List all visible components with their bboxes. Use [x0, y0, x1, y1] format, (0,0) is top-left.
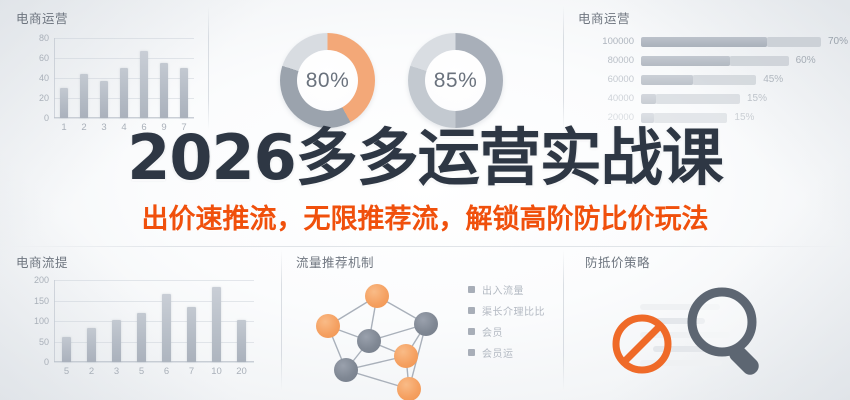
bar-remainder — [767, 37, 821, 47]
bar-value-label: 60% — [796, 55, 816, 66]
bar-track — [641, 75, 756, 85]
legend-label: 会员 — [482, 324, 503, 339]
legend-item: 出入流量 — [468, 282, 524, 297]
bar — [62, 337, 71, 362]
network-node — [357, 329, 381, 353]
bar-remainder — [730, 56, 789, 66]
bar-fill — [641, 56, 730, 66]
panel-top-right-title: 电商运营 — [578, 8, 838, 27]
panel-top-center: 80% 85% — [215, 8, 560, 133]
traffic-bar-chart: 0501001502005235671020 — [54, 280, 254, 362]
legend-item: 渠长介理比比 — [468, 303, 545, 318]
x-axis-tick-label: 5 — [64, 366, 69, 377]
bar-group: 2 — [79, 280, 104, 362]
bar-group: 10 — [204, 280, 229, 362]
bar — [137, 313, 146, 362]
legend-label: 会员运 — [482, 345, 514, 360]
legend-swatch-icon — [468, 328, 475, 335]
divider-vertical-left — [208, 6, 209, 130]
donut-chart-80: 80% — [280, 33, 375, 128]
bar-fill — [641, 37, 767, 47]
network-nodes — [296, 274, 481, 400]
x-axis-tick-label: 7 — [189, 366, 194, 377]
network-node — [365, 284, 389, 308]
x-axis-tick-label: 6 — [164, 366, 169, 377]
bar-value-label: 15% — [734, 112, 754, 123]
y-axis-tick-label: 150 — [34, 296, 49, 306]
bar-group: 5 — [129, 280, 154, 362]
divider-horizontal — [10, 246, 840, 247]
bar-group: 1 — [54, 38, 74, 118]
bar-group: 5 — [54, 280, 79, 362]
panel-top-right: 电商运营 10000070%8000060%6000045%4000015%20… — [578, 8, 838, 133]
panel-bottom-right-title: 防抵价策略 — [585, 252, 840, 271]
bar — [100, 81, 108, 118]
bar — [140, 51, 148, 118]
network-node — [394, 344, 418, 368]
legend-label: 渠长介理比比 — [482, 303, 545, 318]
donut-85-value: 85% — [434, 69, 478, 93]
bar — [120, 68, 128, 118]
divider-vertical-right — [563, 6, 564, 130]
bar — [80, 74, 88, 118]
network-node — [397, 377, 421, 400]
bar-group: 3 — [104, 280, 129, 362]
legend-swatch-icon — [468, 286, 475, 293]
bar-group: 9 — [154, 38, 174, 118]
no-entry-icon — [610, 312, 674, 376]
x-axis-tick-label: 10 — [211, 366, 222, 377]
bar — [212, 287, 221, 362]
bar-track — [641, 94, 740, 104]
table-row: 4000015% — [578, 93, 767, 104]
main-title: 2026多多运营实战课 — [0, 126, 850, 189]
bar-group: 20 — [229, 280, 254, 362]
x-axis-tick-label: 5 — [139, 366, 144, 377]
row-label: 80000 — [578, 55, 634, 66]
bar-fill — [641, 75, 693, 85]
bar-value-label: 15% — [747, 93, 767, 104]
legend-item: 会员 — [468, 324, 503, 339]
panel-bottom-middle-title: 流量推荐机制 — [296, 252, 551, 271]
bar — [60, 88, 68, 118]
grid-line — [54, 362, 254, 363]
legend-item: 会员运 — [468, 345, 514, 360]
bar-group: 6 — [134, 38, 154, 118]
bar — [112, 320, 121, 362]
y-axis-tick-label: 0 — [44, 357, 49, 367]
row-label: 100000 — [578, 36, 634, 47]
bar-remainder — [693, 75, 756, 85]
y-axis-tick-label: 60 — [39, 53, 49, 63]
legend-label: 出入流量 — [482, 282, 524, 297]
row-label: 40000 — [578, 93, 634, 104]
bar-remainder — [656, 94, 740, 104]
bar-track — [641, 56, 789, 66]
bar-group: 6 — [154, 280, 179, 362]
y-axis-tick-label: 50 — [39, 337, 49, 347]
bar-group: 4 — [114, 38, 134, 118]
plot-area: 1234697 — [54, 38, 194, 118]
bar — [180, 68, 188, 118]
grid-line — [54, 118, 194, 119]
network-node — [334, 358, 358, 382]
magnifier-icon — [680, 280, 790, 390]
donut-chart-85: 85% — [408, 33, 503, 128]
bar — [187, 307, 196, 362]
table-row: 10000070% — [578, 36, 848, 47]
headline-block: 2026多多运营实战课 出价速推流，无限推荐流，解锁高阶防比价玩法 — [0, 126, 850, 236]
bar — [160, 63, 168, 118]
legend-swatch-icon — [468, 349, 475, 356]
bar-group: 2 — [74, 38, 94, 118]
ecommerce-horizontal-bar-chart: 10000070%8000060%6000045%4000015%2000015… — [578, 36, 836, 131]
bar-group: 7 — [179, 280, 204, 362]
x-axis-tick-label: 20 — [236, 366, 247, 377]
table-row: 8000060% — [578, 55, 816, 66]
divider-vertical-bottom-right — [563, 250, 564, 390]
legend-swatch-icon — [468, 307, 475, 314]
bar-value-label: 70% — [828, 36, 848, 47]
plot-area: 5235671020 — [54, 280, 254, 362]
panel-top-left-title: 电商运营 — [16, 8, 206, 27]
bar — [237, 320, 246, 362]
panel-bottom-right: 防抵价策略 — [585, 252, 840, 392]
row-label: 60000 — [578, 74, 634, 85]
donut-80-value: 80% — [306, 69, 350, 93]
bar-value-label: 45% — [763, 74, 783, 85]
promo-banner: 电商运营 0204060801234697 80% 85% 电商运营 10000… — [0, 0, 850, 400]
panel-bottom-middle: 流量推荐机制 出入流量渠长介理比比会员会员运 — [296, 252, 551, 392]
panel-bottom-left: 电商流提 0501001502005235671020 — [16, 252, 266, 392]
panel-top-left: 电商运营 0204060801234697 — [16, 8, 206, 133]
x-axis-tick-label: 2 — [89, 366, 94, 377]
y-axis-tick-label: 80 — [39, 33, 49, 43]
bar — [87, 328, 96, 362]
y-axis-tick-label: 20 — [39, 93, 49, 103]
bar-group: 3 — [94, 38, 114, 118]
network-node — [316, 314, 340, 338]
y-axis-tick-label: 200 — [34, 275, 49, 285]
bar — [162, 294, 171, 362]
y-axis-tick-label: 100 — [34, 316, 49, 326]
sub-title: 出价速推流，无限推荐流，解锁高阶防比价玩法 — [0, 197, 850, 236]
table-row: 6000045% — [578, 74, 783, 85]
y-axis-tick-label: 40 — [39, 73, 49, 83]
x-axis-tick-label: 3 — [114, 366, 119, 377]
y-axis-tick-label: 0 — [44, 113, 49, 123]
network-node — [414, 312, 438, 336]
bar-track — [641, 37, 821, 47]
divider-vertical-bottom-left — [281, 250, 282, 390]
bar-fill — [641, 94, 656, 104]
bar-group: 7 — [174, 38, 194, 118]
panel-bottom-left-title: 电商流提 — [16, 252, 266, 271]
ecommerce-operations-bar-chart: 0204060801234697 — [54, 38, 194, 118]
